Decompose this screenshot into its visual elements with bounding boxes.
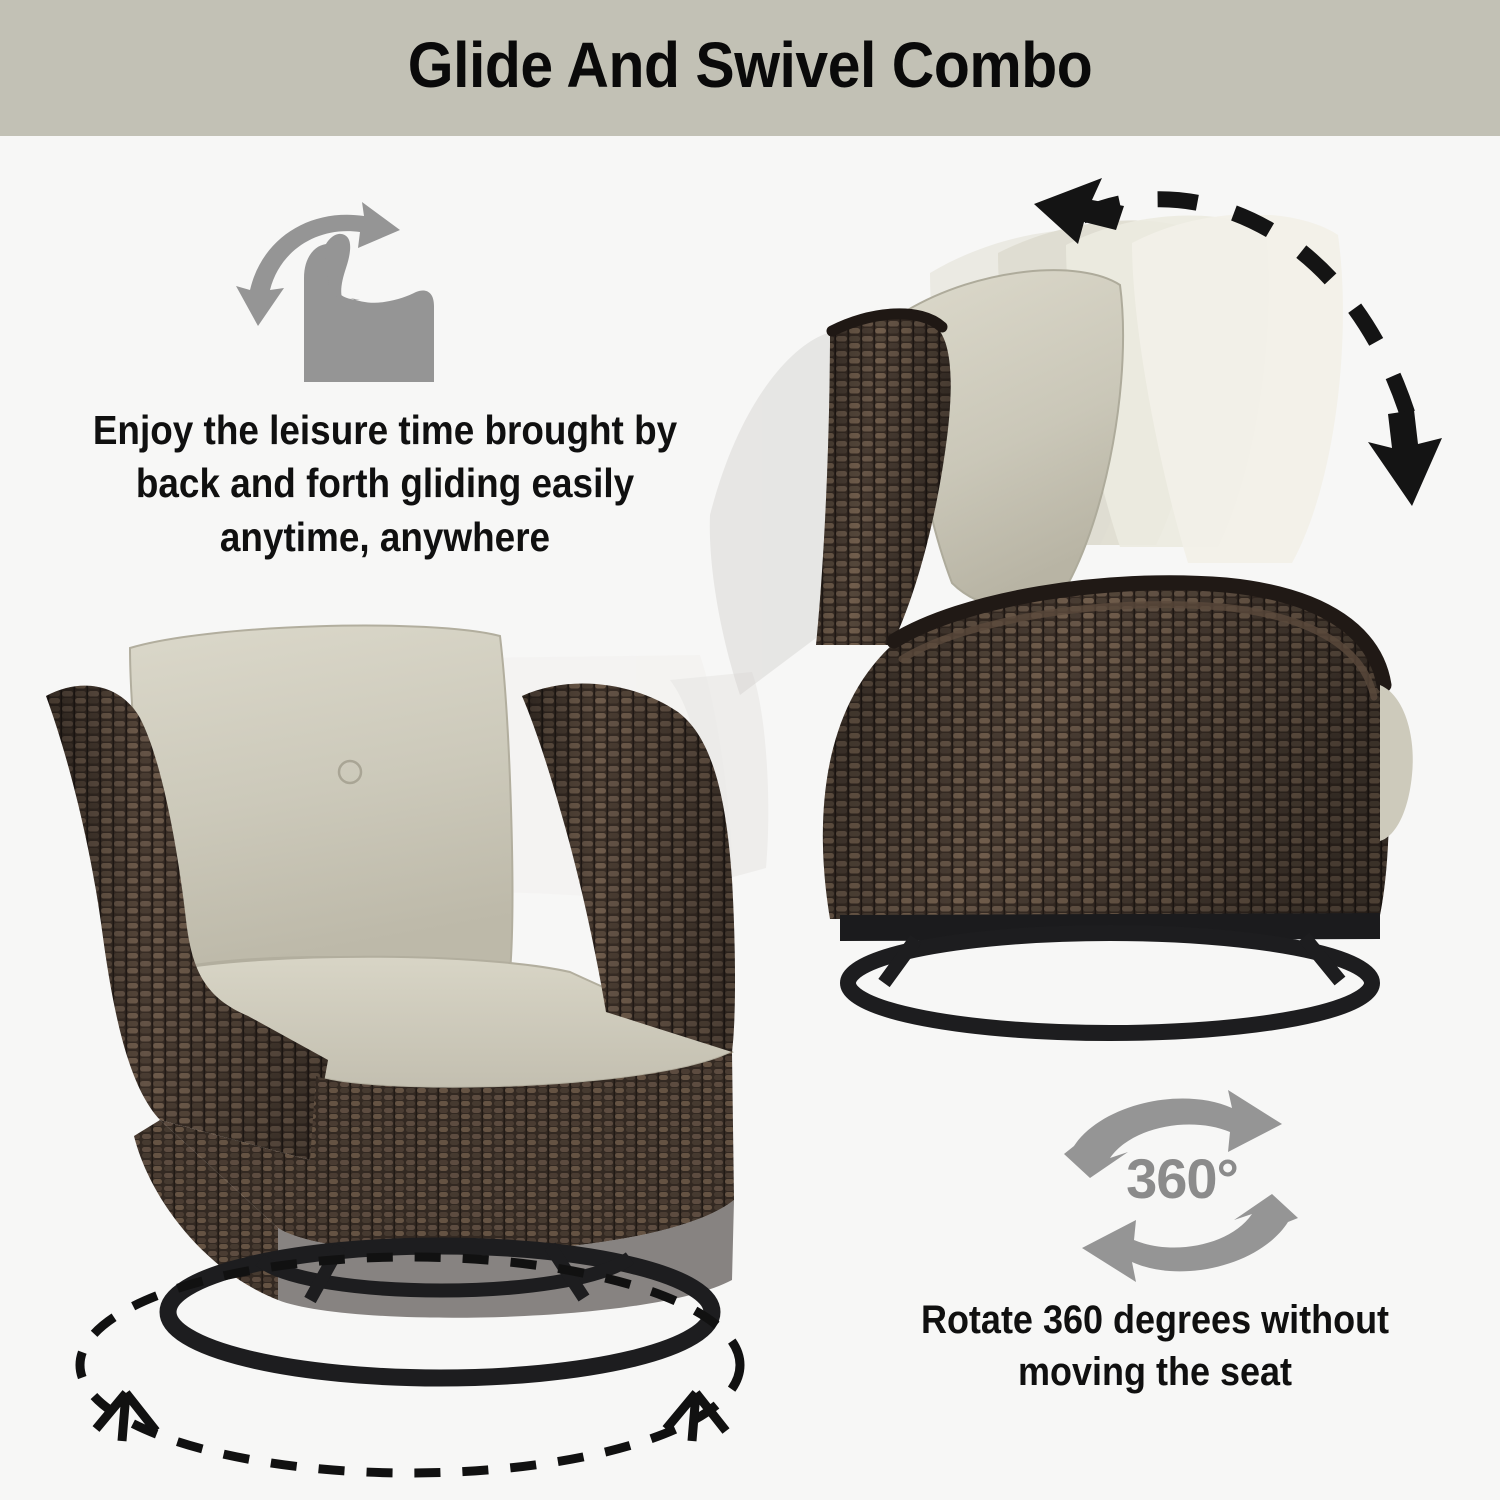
product-feature-image: Glide And Swivel Combo Enjoy the leisure… bbox=[0, 0, 1500, 1500]
chair-front-view bbox=[10, 600, 770, 1480]
rotate-360-label: 360° bbox=[1032, 1146, 1332, 1211]
chair-back-frame bbox=[816, 314, 951, 645]
page-title: Glide And Swivel Combo bbox=[408, 33, 1093, 103]
chair-side-view-svg bbox=[680, 215, 1470, 1055]
chair-front-view-svg bbox=[10, 600, 770, 1480]
glide-caption: Enjoy the leisure time brought by back a… bbox=[75, 404, 696, 564]
swivel-base-side bbox=[840, 913, 1380, 1033]
chair-side-panel bbox=[823, 583, 1389, 919]
chair-side-view bbox=[680, 215, 1470, 1055]
glide-chair-icon-svg bbox=[232, 186, 502, 396]
swivel-caption: Rotate 360 degrees without moving the se… bbox=[872, 1294, 1439, 1398]
glide-chair-icon bbox=[232, 186, 502, 396]
cushion-edge-right bbox=[1380, 685, 1413, 841]
rotate-360-icon: 360° bbox=[1032, 1090, 1332, 1290]
back-cushion bbox=[130, 626, 512, 972]
header-band: Glide And Swivel Combo bbox=[0, 0, 1500, 136]
